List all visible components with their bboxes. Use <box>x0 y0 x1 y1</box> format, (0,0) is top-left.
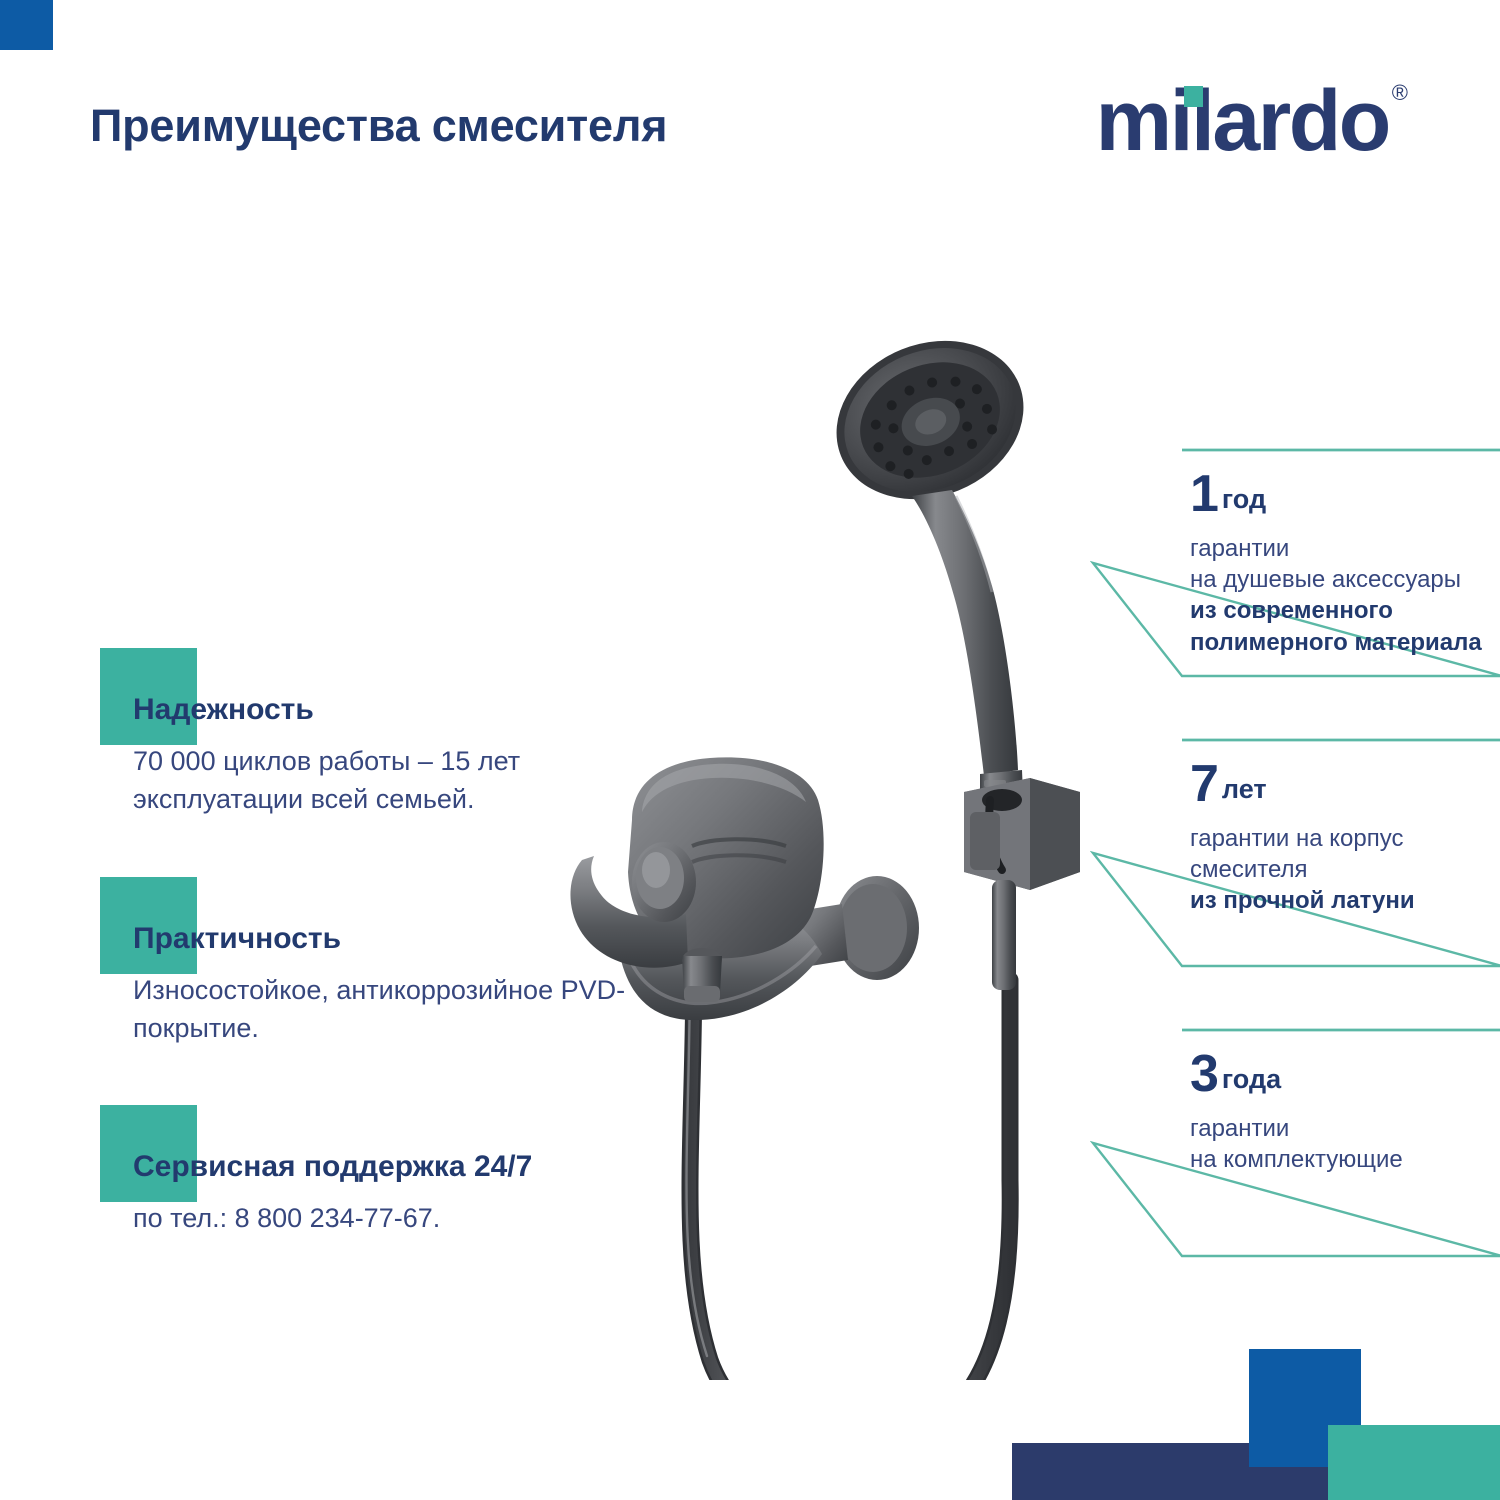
callout-number: 7 <box>1190 755 1218 813</box>
features-list: Надежность 70 000 циклов работы – 15 лет… <box>100 648 660 1238</box>
callout-line: смесителя <box>1190 854 1500 885</box>
callout-line: на комплектующие <box>1190 1144 1500 1175</box>
callout-line: гарантии на корпус <box>1190 823 1500 854</box>
callout-unit: лет <box>1222 774 1267 804</box>
callout-line-emphasis: полимерного материала <box>1190 627 1500 658</box>
guarantee-callout: 3года гарантии на комплектующие <box>1090 1028 1500 1256</box>
infographic-page: Преимущества смесителя milardo ® <box>0 0 1500 1500</box>
guarantee-callout: 7лет гарантии на корпус смесителя из про… <box>1090 738 1500 966</box>
callout-line: на душевые аксессуары <box>1190 564 1500 595</box>
feature-body: 70 000 циклов работы – 15 лет эксплуатац… <box>100 728 660 819</box>
callout-content: 1год гарантии на душевые аксессуары из с… <box>1190 468 1500 658</box>
feature-item: Сервисная поддержка 24/7 по тел.: 8 800 … <box>100 1105 660 1237</box>
feature-body: Износостойкое, антикоррозийное PVD-покры… <box>100 957 660 1048</box>
callout-number: 3 <box>1190 1045 1218 1103</box>
brand-logo: milardo ® <box>1096 78 1408 164</box>
feature-heading: Надежность <box>100 648 660 728</box>
feature-item: Практичность Износостойкое, антикоррозий… <box>100 877 660 1048</box>
feature-item: Надежность 70 000 циклов работы – 15 лет… <box>100 648 660 819</box>
callout-content: 7лет гарантии на корпус смесителя из про… <box>1190 758 1500 917</box>
feature-heading: Практичность <box>100 877 660 957</box>
feature-heading: Сервисная поддержка 24/7 <box>100 1105 660 1185</box>
guarantee-callouts: 1год гарантии на душевые аксессуары из с… <box>1090 448 1500 1256</box>
callout-line: гарантии <box>1190 1113 1500 1144</box>
callout-term: 7лет <box>1190 758 1500 810</box>
feature-body: по тел.: 8 800 234-77-67. <box>100 1185 660 1237</box>
callout-unit: года <box>1222 1064 1281 1094</box>
brand-wordmark: milardo <box>1096 78 1389 164</box>
brand-accent-dot-icon <box>1184 86 1203 107</box>
corner-accent-top-left <box>0 0 53 50</box>
registered-trademark-icon: ® <box>1392 82 1408 104</box>
guarantee-callout: 1год гарантии на душевые аксессуары из с… <box>1090 448 1500 676</box>
callout-number: 1 <box>1190 465 1218 523</box>
corner-accent-teal-block <box>1328 1425 1500 1500</box>
callout-line-emphasis: из прочной латуни <box>1190 885 1500 916</box>
callout-term: 1год <box>1190 468 1500 520</box>
callout-content: 3года гарантии на комплектующие <box>1190 1048 1500 1175</box>
page-title: Преимущества смесителя <box>90 96 710 155</box>
callout-line-emphasis: из современного <box>1190 595 1500 626</box>
callout-term: 3года <box>1190 1048 1500 1100</box>
callout-line: гарантии <box>1190 533 1500 564</box>
callout-unit: год <box>1222 484 1266 514</box>
